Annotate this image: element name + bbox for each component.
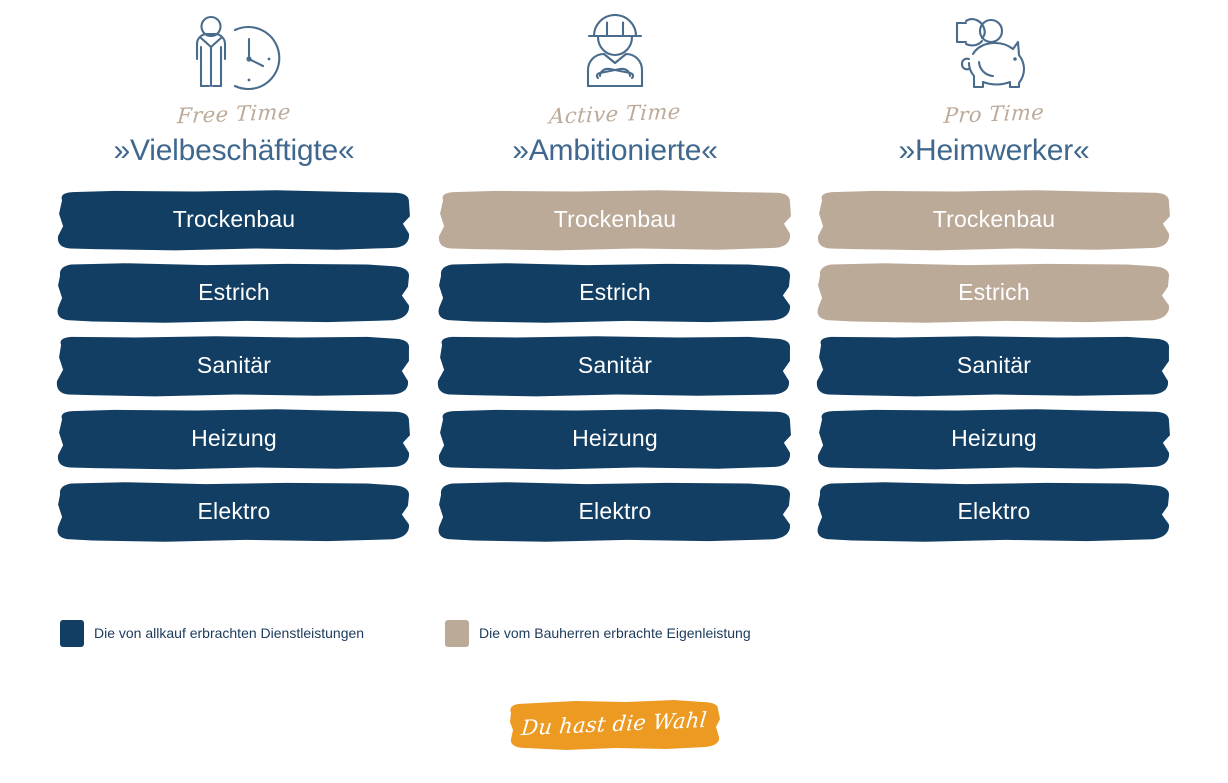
legend: Die von allkauf erbrachten Dienstleistun… [60,620,1170,647]
service-bar[interactable]: Heizung [435,408,795,470]
legend-label: Die von allkauf erbrachten Dienstleistun… [94,625,364,642]
service-bar[interactable]: Sanitär [54,335,414,397]
legend-swatch-beige [445,620,469,647]
service-bar[interactable]: Trockenbau [435,189,795,251]
column-heading: »Ambitionierte« [435,134,795,167]
bar-brush-shape [814,335,1174,397]
bar-brush-shape [435,335,795,397]
script-label: Pro Time [813,97,1174,132]
service-bar[interactable]: Heizung [814,408,1174,470]
person-clock-icon [54,0,414,100]
legend-label: Die vom Bauherren erbrachte Eigenleistun… [479,625,751,642]
bar-brush-shape [54,262,414,324]
legend-swatch-navy [60,620,84,647]
bar-brush-shape [814,262,1174,324]
bar-brush-shape [435,189,795,251]
service-bars-list: TrockenbauEstrichSanitärHeizungElektro [435,189,795,543]
bar-brush-shape [435,481,795,543]
bar-brush-shape [814,481,1174,543]
bar-brush-shape [435,408,795,470]
bar-brush-shape [54,481,414,543]
legend-item-service: Die von allkauf erbrachten Dienstleistun… [60,620,445,647]
bar-brush-shape [814,408,1174,470]
column-heading: »Vielbeschäftigte« [54,134,414,167]
package-columns: Free Time »Vielbeschäftigte« TrockenbauE… [0,0,1228,600]
service-bars-list: TrockenbauEstrichSanitärHeizungElektro [54,189,414,543]
script-label: Free Time [53,97,414,132]
badge-brush-shape [506,697,722,753]
service-bar[interactable]: Elektro [435,481,795,543]
legend-item-self: Die vom Bauherren erbrachte Eigenleistun… [445,620,751,647]
package-column-active-time: Active Time »Ambitionierte« TrockenbauEs… [435,0,795,554]
column-heading: »Heimwerker« [814,134,1174,167]
service-bar[interactable]: Elektro [54,481,414,543]
piggy-bank-icon [814,0,1174,100]
service-bar[interactable]: Sanitär [435,335,795,397]
service-bar[interactable]: Sanitär [814,335,1174,397]
service-bar[interactable]: Estrich [814,262,1174,324]
service-bar[interactable]: Estrich [435,262,795,324]
bar-brush-shape [54,189,414,251]
package-column-pro-time: Pro Time »Heimwerker« TrockenbauEstrichS… [814,0,1174,554]
bar-brush-shape [54,408,414,470]
service-bar[interactable]: Trockenbau [814,189,1174,251]
service-bar[interactable]: Heizung [54,408,414,470]
bar-brush-shape [54,335,414,397]
script-label: Active Time [434,97,795,132]
service-bar[interactable]: Trockenbau [54,189,414,251]
bar-brush-shape [814,189,1174,251]
choice-badge: Du hast die Wahl [506,697,722,753]
service-bars-list: TrockenbauEstrichSanitärHeizungElektro [814,189,1174,543]
bar-brush-shape [435,262,795,324]
service-bar[interactable]: Elektro [814,481,1174,543]
package-column-free-time: Free Time »Vielbeschäftigte« TrockenbauE… [54,0,414,554]
worker-helmet-icon [435,0,795,100]
service-bar[interactable]: Estrich [54,262,414,324]
